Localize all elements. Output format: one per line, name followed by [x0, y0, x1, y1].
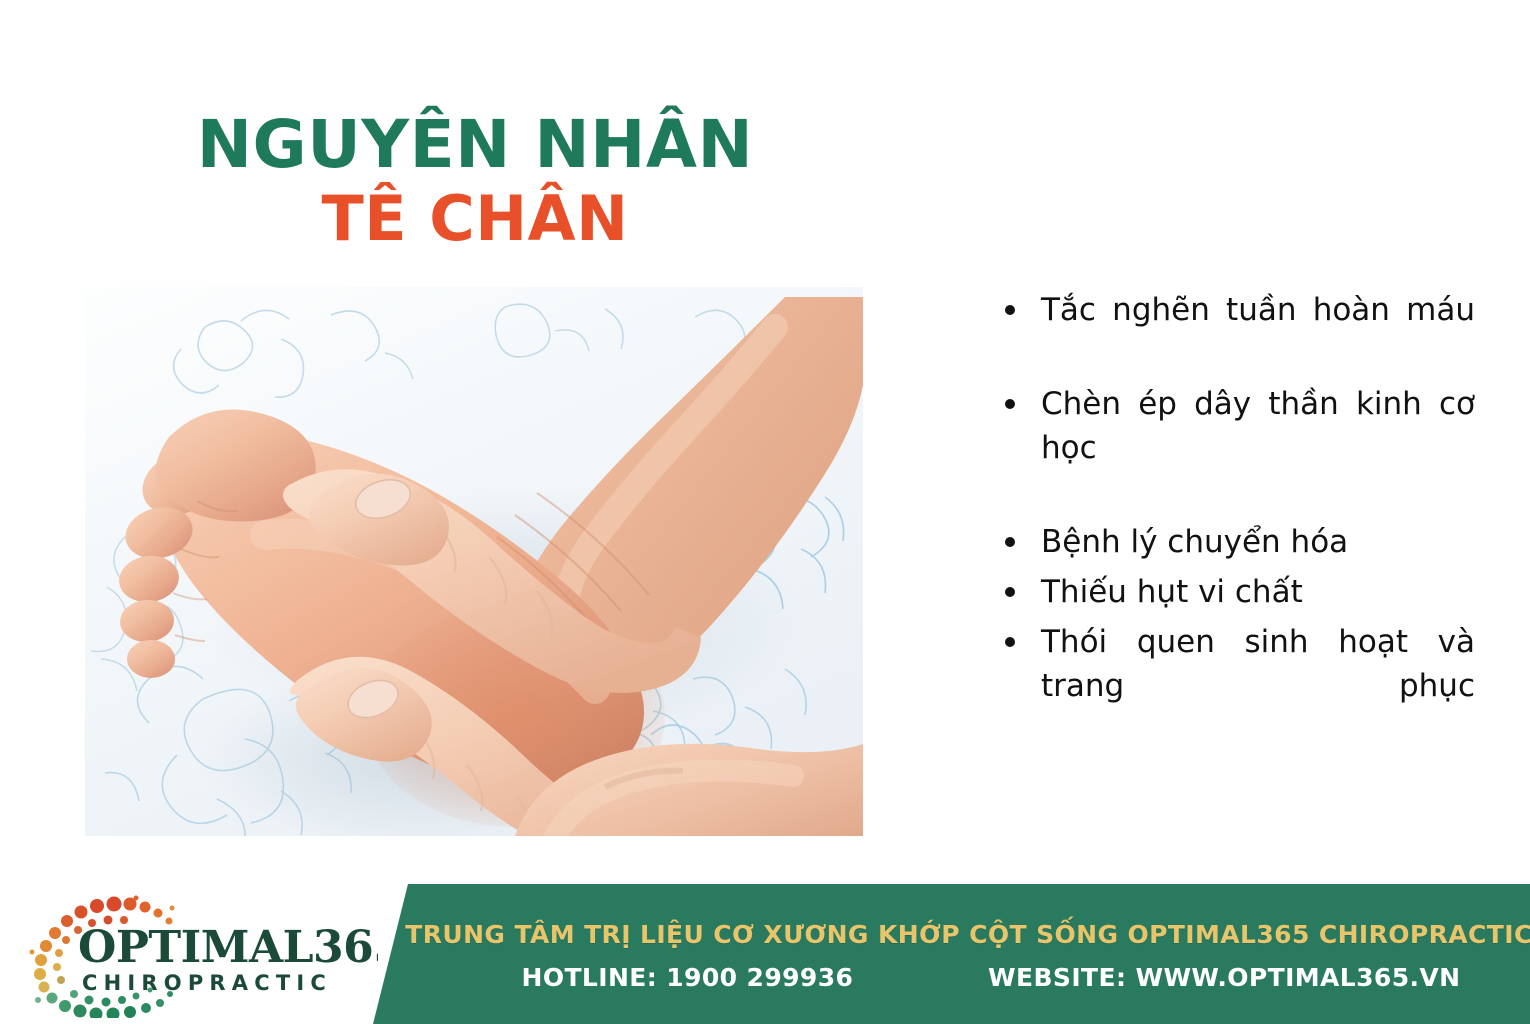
infographic-canvas: NGUYÊN NHÂN TÊ CHÂN: [0, 0, 1530, 1024]
list-item: Thiếu hụt vi chất: [985, 570, 1475, 614]
footer-contact-row: HOTLINE: 1900 299936 WEBSITE: WWW.OPTIMA…: [432, 963, 1507, 992]
list-item: Bệnh lý chuyển hóa: [985, 520, 1475, 564]
list-item: Tắc nghẽn tuần hoàn máu: [985, 288, 1475, 376]
logo-tagline-text: CHIROPRACTIC: [82, 971, 332, 995]
list-item-label: Bệnh lý chuyển hóa: [1041, 524, 1348, 560]
list-item-label: Tắc nghẽn tuần hoàn máu: [1041, 288, 1475, 376]
list-item: Thói quen sinh hoạt và trang phục: [985, 620, 1475, 752]
list-item-label: Chèn ép dây thần kinh cơ học: [1041, 382, 1475, 514]
list-item-label: Thiếu hụt vi chất: [1041, 574, 1303, 610]
list-item-label: Thói quen sinh hoạt và trang phục: [1041, 620, 1475, 752]
bullet-dot-icon: [1005, 637, 1015, 647]
bullet-dot-icon: [1005, 305, 1015, 315]
causes-list: Tắc nghẽn tuần hoàn máu Chèn ép dây thần…: [985, 288, 1475, 758]
bullet-dot-icon: [1005, 587, 1015, 597]
page-title: NGUYÊN NHÂN TÊ CHÂN: [0, 110, 950, 253]
footer-hotline[interactable]: HOTLINE: 1900 299936: [522, 963, 854, 992]
footer-headline: TRUNG TÂM TRỊ LIỆU CƠ XƯƠNG KHỚP CỘT SỐN…: [405, 920, 1530, 949]
bullet-dot-icon: [1005, 537, 1015, 547]
footer-website[interactable]: WEBSITE: WWW.OPTIMAL365.VN: [988, 963, 1460, 992]
brand-logo[interactable]: OPTIMAL365 CHIROPRACTIC: [18, 890, 378, 1018]
title-line-secondary: TÊ CHÂN: [0, 185, 950, 253]
footer-content: TRUNG TÂM TRỊ LIỆU CƠ XƯƠNG KHỚP CỘT SỐN…: [408, 884, 1530, 1024]
foot-massage-photo: [85, 287, 863, 836]
bullet-dot-icon: [1005, 399, 1015, 409]
title-line-primary: NGUYÊN NHÂN: [0, 110, 950, 179]
list-item: Chèn ép dây thần kinh cơ học: [985, 382, 1475, 514]
logo-brand-text: OPTIMAL365: [78, 922, 378, 973]
